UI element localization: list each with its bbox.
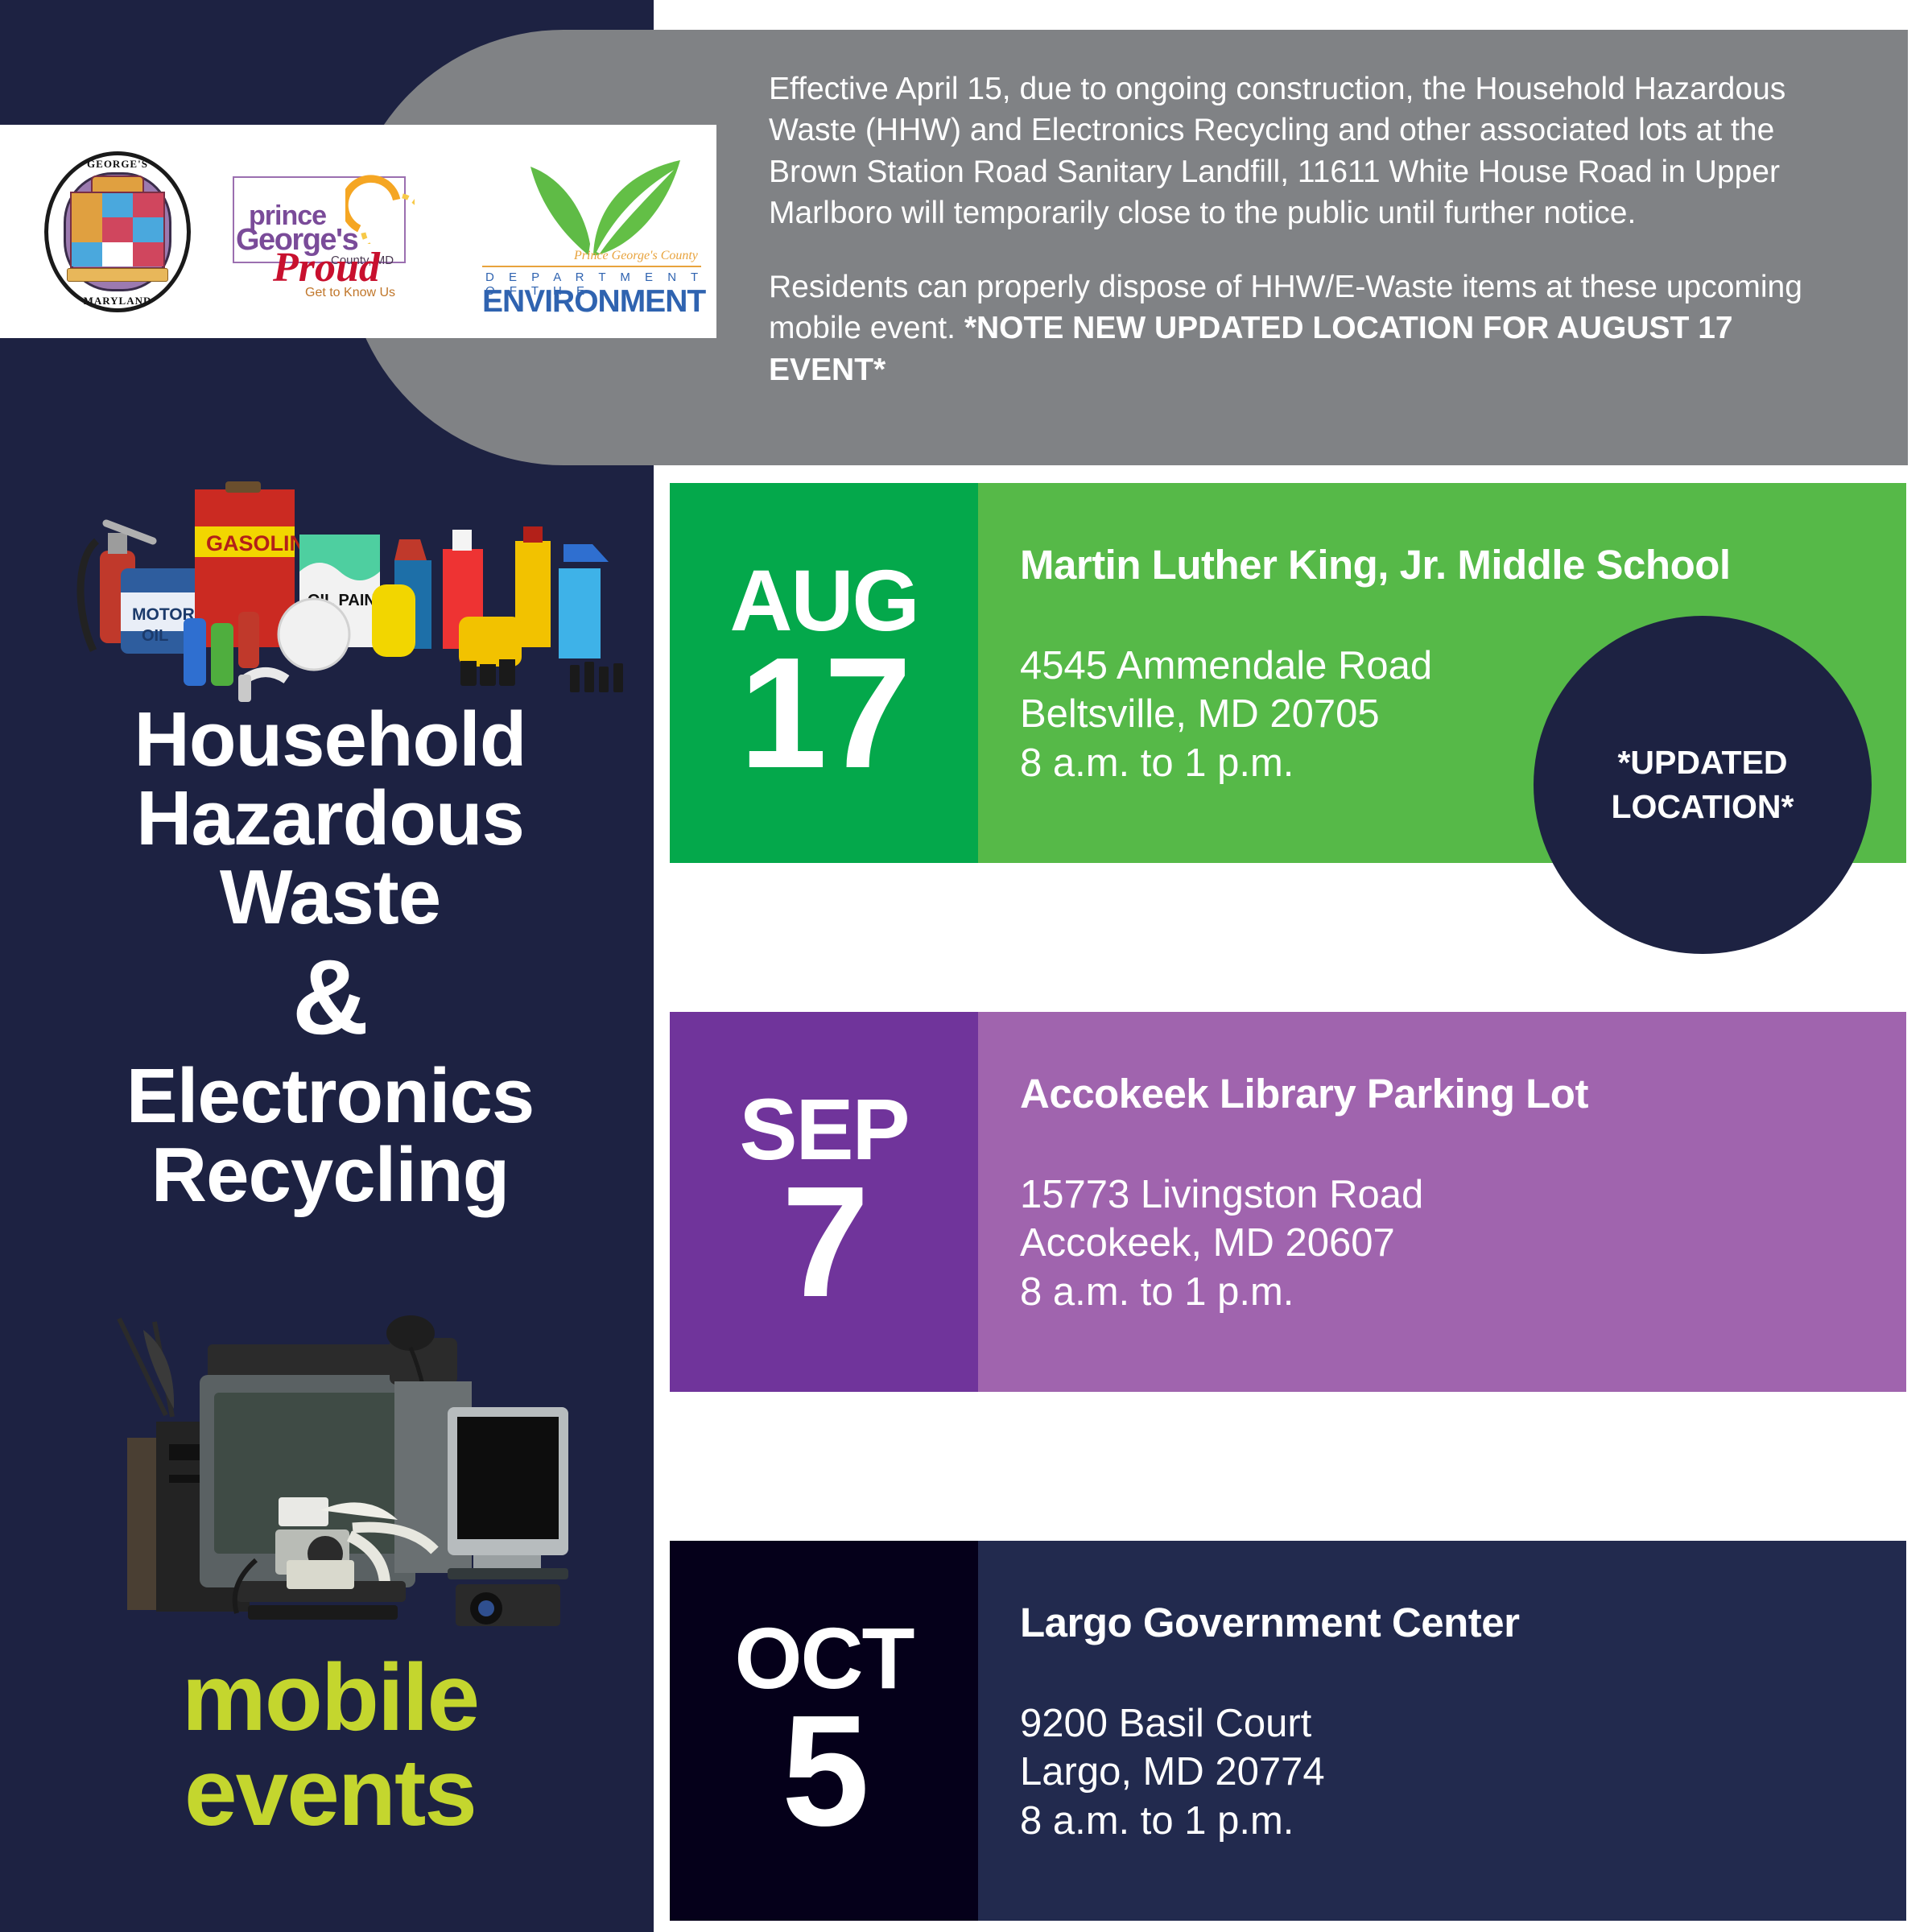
hazmat-products-photo: MOTOR OIL GASOLINE OIL PAINT xyxy=(58,464,654,705)
seal-text-top: GEORGE'S xyxy=(44,158,191,171)
county-seal-icon: GEORGE'S MARYLAND xyxy=(44,151,191,312)
page-title: Household Hazardous Waste & Electronics … xyxy=(24,700,636,1215)
event-day: 7 xyxy=(782,1170,866,1315)
title-line-3: Waste xyxy=(24,858,636,937)
event-card[interactable]: SEP 7 Accokeek Library Parking Lot 15773… xyxy=(670,1012,1906,1392)
mobile-events-line-1: mobile xyxy=(24,1650,636,1745)
event-address-line-2: Largo, MD 20774 xyxy=(1020,1748,1906,1796)
event-day: 5 xyxy=(782,1699,866,1843)
title-line-2: Hazardous xyxy=(24,779,636,858)
mobile-events-heading: mobile events xyxy=(24,1650,636,1840)
event-time: 8 a.m. to 1 p.m. xyxy=(1020,1797,1906,1845)
seal-text-bottom: MARYLAND xyxy=(44,295,191,308)
event-time: 8 a.m. to 1 p.m. xyxy=(1020,1268,1906,1316)
env-county-label: Prince George's County xyxy=(574,249,698,263)
proud-line-4: Proud xyxy=(273,244,380,291)
title-line-4: Electronics xyxy=(24,1057,636,1136)
proud-line-5: Get to Know Us xyxy=(305,286,395,300)
banner-paragraph-2: Residents can properly dispose of HHW/E-… xyxy=(769,266,1847,390)
title-line-5: Recycling xyxy=(24,1136,636,1215)
event-date-column: AUG 17 xyxy=(670,483,978,863)
event-address-line-1: 9200 Basil Court xyxy=(1020,1699,1906,1748)
banner-paragraph-1: Effective April 15, due to ongoing const… xyxy=(769,68,1847,234)
updated-location-badge: *UPDATED LOCATION* xyxy=(1534,616,1872,954)
event-day: 17 xyxy=(739,641,908,786)
event-card[interactable]: OCT 5 Largo Government Center 9200 Basil… xyxy=(670,1541,1906,1921)
env-title: ENVIRONMENT xyxy=(482,284,705,320)
department-of-environment-logo: Prince George's County D E P A R T M E N… xyxy=(476,155,709,308)
logo-strip: GEORGE'S MARYLAND prince George's County… xyxy=(0,125,716,338)
event-address: 9200 Basil Court Largo, MD 20774 8 a.m. … xyxy=(1020,1699,1906,1845)
title-line-1: Household xyxy=(24,700,636,779)
title-ampersand: & xyxy=(24,939,636,1055)
banner-announcement-text: Effective April 15, due to ongoing const… xyxy=(769,68,1847,390)
leaf-icon xyxy=(493,155,695,256)
event-venue: Martin Luther King, Jr. Middle School xyxy=(1020,541,1906,588)
event-date-column: OCT 5 xyxy=(670,1541,978,1921)
event-info-column: Largo Government Center 9200 Basil Court… xyxy=(978,1541,1906,1921)
event-address-line-1: 15773 Livingston Road xyxy=(1020,1170,1906,1219)
event-venue: Accokeek Library Parking Lot xyxy=(1020,1070,1906,1117)
svg-text:OIL: OIL xyxy=(142,627,168,645)
event-address: 15773 Livingston Road Accokeek, MD 20607… xyxy=(1020,1170,1906,1316)
prince-georges-proud-logo: prince George's County, MD Proud Get to … xyxy=(233,163,434,300)
event-date-column: SEP 7 xyxy=(670,1012,978,1392)
mobile-events-line-2: events xyxy=(24,1745,636,1840)
event-address-line-2: Accokeek, MD 20607 xyxy=(1020,1219,1906,1267)
event-info-column: Accokeek Library Parking Lot 15773 Livin… xyxy=(978,1012,1906,1392)
ewaste-equipment-photo xyxy=(95,1294,610,1633)
event-venue: Largo Government Center xyxy=(1020,1599,1906,1646)
